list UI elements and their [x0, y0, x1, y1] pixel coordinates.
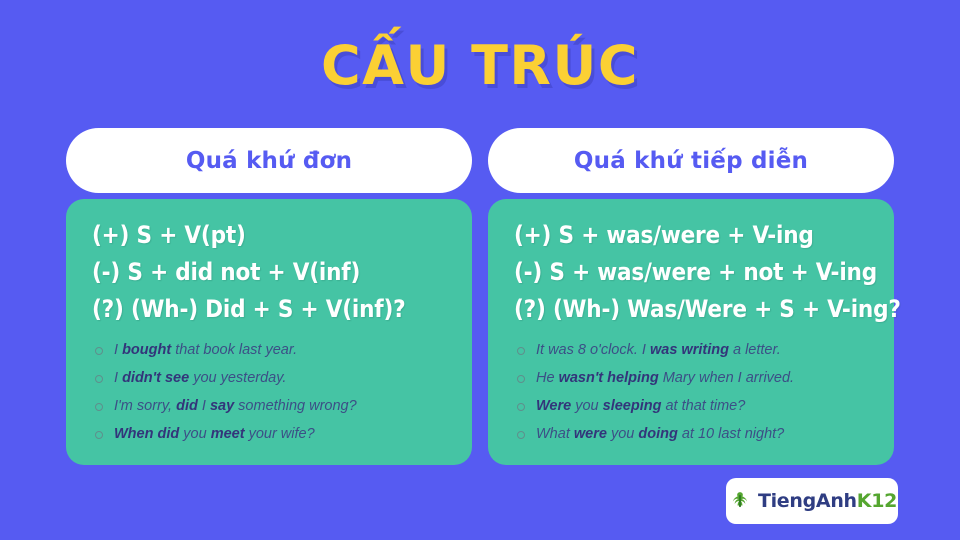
example-text: you — [571, 398, 602, 414]
column-heading-pill-past-simple: Quá khứ đơn — [66, 128, 472, 193]
example-keyword: say — [210, 398, 234, 414]
column-past-continuous: Quá khứ tiếp diễn (+) S + was/were + V-i… — [488, 128, 894, 465]
example-text: you — [179, 426, 210, 442]
example-text: something wrong? — [234, 398, 357, 414]
formula-item: (?) (Wh-) Did + S + V(inf)? — [92, 291, 450, 328]
example-keyword: didn't see — [122, 370, 189, 386]
example-item: He wasn't helping Mary when I arrived. — [514, 369, 872, 397]
formula-item: (-) S + was/were + not + V-ing — [514, 254, 872, 291]
example-text: Mary when I arrived. — [659, 370, 794, 386]
example-text: your wife? — [245, 426, 315, 442]
example-keyword: was writing — [650, 342, 729, 358]
content-card-past-continuous: (+) S + was/were + V-ing (-) S + was/wer… — [488, 199, 894, 465]
example-text: at 10 last night? — [678, 426, 784, 442]
brand-name-primary: TiengAnh — [758, 490, 857, 512]
brand-name-accent: K12 — [857, 490, 897, 512]
comparison-columns: Quá khứ đơn (+) S + V(pt) (-) S + did no… — [66, 128, 894, 465]
example-keyword: were — [574, 426, 607, 442]
formula-list: (+) S + V(pt) (-) S + did not + V(inf) (… — [92, 217, 450, 328]
column-heading-label: Quá khứ đơn — [186, 148, 352, 174]
example-text: I — [114, 370, 122, 386]
example-text: at that time? — [661, 398, 745, 414]
example-text: It was 8 o'clock. I — [536, 342, 650, 358]
brand-logo-text: TiengAnhK12 — [758, 490, 897, 512]
column-heading-label: Quá khứ tiếp diễn — [574, 148, 808, 174]
example-keyword: When did — [114, 426, 179, 442]
example-list: I bought that book last year.I didn't se… — [92, 341, 450, 443]
example-text: you — [607, 426, 638, 442]
page-title: CẤU TRÚC — [321, 34, 639, 97]
example-item: What were you doing at 10 last night? — [514, 425, 872, 444]
column-heading-pill-past-continuous: Quá khứ tiếp diễn — [488, 128, 894, 193]
example-keyword: meet — [211, 426, 245, 442]
example-keyword: bought — [122, 342, 171, 358]
example-item: I bought that book last year. — [92, 341, 450, 369]
column-past-simple: Quá khứ đơn (+) S + V(pt) (-) S + did no… — [66, 128, 472, 465]
brand-logo: TiengAnhK12 — [726, 478, 898, 524]
formula-item: (?) (Wh-) Was/Were + S + V-ing? — [514, 291, 872, 328]
example-text: you yesterday. — [189, 370, 286, 386]
formula-item: (+) S + was/were + V-ing — [514, 217, 872, 254]
example-item: It was 8 o'clock. I was writing a letter… — [514, 341, 872, 369]
example-keyword: doing — [638, 426, 677, 442]
example-keyword: did — [176, 398, 198, 414]
content-card-past-simple: (+) S + V(pt) (-) S + did not + V(inf) (… — [66, 199, 472, 465]
example-text: a letter. — [729, 342, 781, 358]
example-keyword: sleeping — [603, 398, 662, 414]
example-item: I didn't see you yesterday. — [92, 369, 450, 397]
example-text: I — [114, 342, 122, 358]
example-keyword: wasn't helping — [559, 370, 659, 386]
formula-item: (+) S + V(pt) — [92, 217, 450, 254]
example-text: that book last year. — [171, 342, 297, 358]
palm-sprout-icon — [727, 488, 753, 514]
example-text: He — [536, 370, 559, 386]
formula-list: (+) S + was/were + V-ing (-) S + was/wer… — [514, 217, 872, 328]
example-item: I'm sorry, did I say something wrong? — [92, 397, 450, 425]
formula-item: (-) S + did not + V(inf) — [92, 254, 450, 291]
example-text: I — [198, 398, 210, 414]
example-item: Were you sleeping at that time? — [514, 397, 872, 425]
example-text: I'm sorry, — [114, 398, 176, 414]
example-text: What — [536, 426, 574, 442]
title-banner: CẤU TRÚC — [0, 34, 960, 97]
example-keyword: Were — [536, 398, 571, 414]
example-item: When did you meet your wife? — [92, 425, 450, 444]
example-list: It was 8 o'clock. I was writing a letter… — [514, 341, 872, 443]
